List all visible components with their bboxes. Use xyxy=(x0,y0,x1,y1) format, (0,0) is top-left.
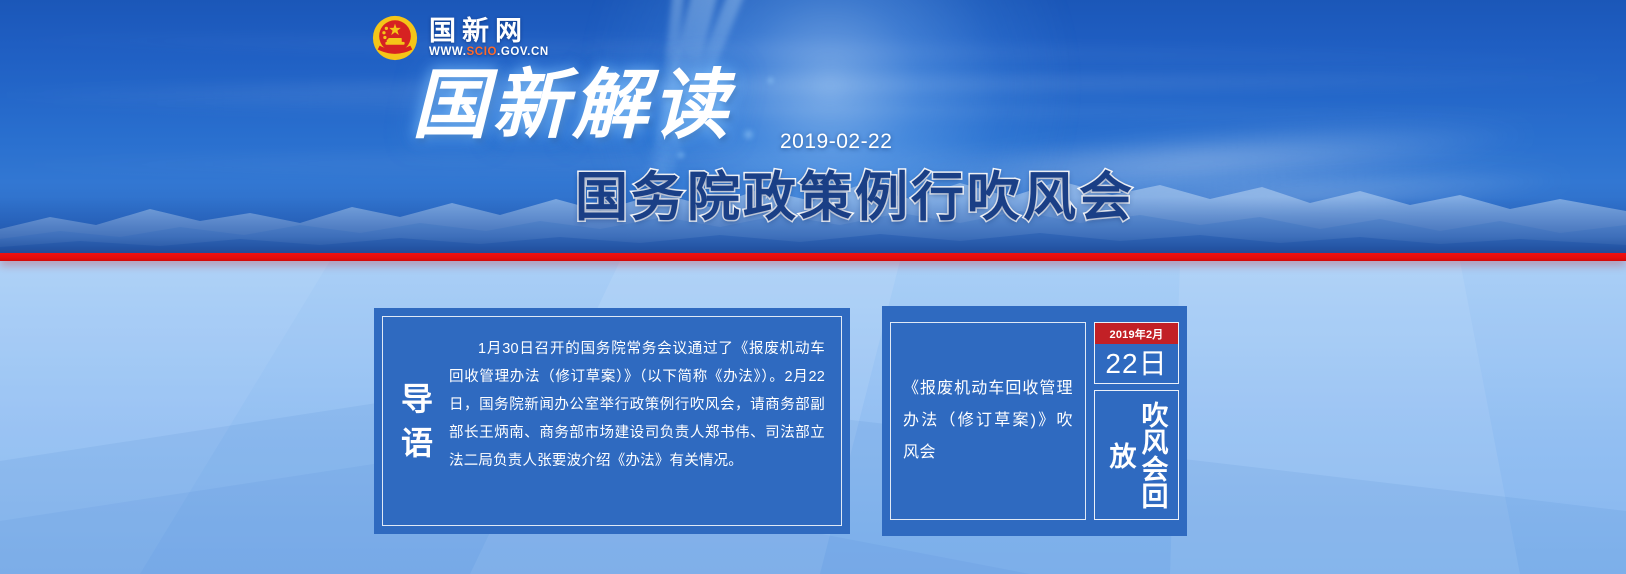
page-title-date: 2019-02-22 xyxy=(780,130,892,154)
site-url-prefix: WWW. xyxy=(429,46,467,58)
intro-label-char-2: 语 xyxy=(401,427,433,459)
briefing-side-panel: 2019年2月 22日 吹风会回放 xyxy=(1094,322,1179,520)
cloud-band xyxy=(0,32,1626,69)
briefing-title-box: 《报废机动车回收管理办法（修订草案)》吹风会 xyxy=(890,322,1086,520)
site-name: 国新网 xyxy=(429,17,528,45)
intro-card-inner-border: 导 语 1月30日召开的国务院常务会议通过了《报废机动车回收管理办法（修订草案）… xyxy=(382,316,842,526)
site-url-suffix: .GOV.CN xyxy=(497,46,549,58)
intro-label: 导 语 xyxy=(383,317,445,525)
logo-text-block: 国新网 WWW.SCIO.GOV.CN xyxy=(429,17,549,59)
intro-label-char-1: 导 xyxy=(401,383,433,415)
header-banner: 国新网 WWW.SCIO.GOV.CN 国新解读 2019-02-22 国务院政… xyxy=(0,0,1626,253)
red-divider xyxy=(0,253,1626,261)
date-badge-day: 22日 xyxy=(1095,344,1178,384)
site-url-highlight: SCIO xyxy=(467,46,498,58)
intro-card: 导 语 1月30日召开的国务院常务会议通过了《报废机动车回收管理办法（修订草案）… xyxy=(374,308,850,534)
briefing-replay-card[interactable]: 《报废机动车回收管理办法（修订草案)》吹风会 2019年2月 22日 吹风会回放 xyxy=(882,306,1187,536)
page-title: 国新解读 xyxy=(412,68,732,144)
national-emblem-icon xyxy=(371,14,419,62)
bokeh-dot xyxy=(766,76,775,85)
date-badge-month: 2019年2月 xyxy=(1095,323,1178,344)
date-badge: 2019年2月 22日 xyxy=(1094,322,1179,384)
replay-button[interactable]: 吹风会回放 xyxy=(1094,390,1179,520)
site-url: WWW.SCIO.GOV.CN xyxy=(429,47,549,59)
briefing-title: 《报废机动车回收管理办法（修订草案)》吹风会 xyxy=(903,373,1073,469)
bokeh-dot xyxy=(742,128,755,141)
intro-text: 1月30日召开的国务院常务会议通过了《报废机动车回收管理办法（修订草案）》（以下… xyxy=(445,317,841,525)
replay-button-label: 吹风会回放 xyxy=(1105,391,1169,519)
page-subtitle: 国务院政策例行吹风会 xyxy=(575,172,1135,225)
site-logo[interactable]: 国新网 WWW.SCIO.GOV.CN xyxy=(371,14,549,62)
page-root: 国新网 WWW.SCIO.GOV.CN 国新解读 2019-02-22 国务院政… xyxy=(0,0,1626,574)
